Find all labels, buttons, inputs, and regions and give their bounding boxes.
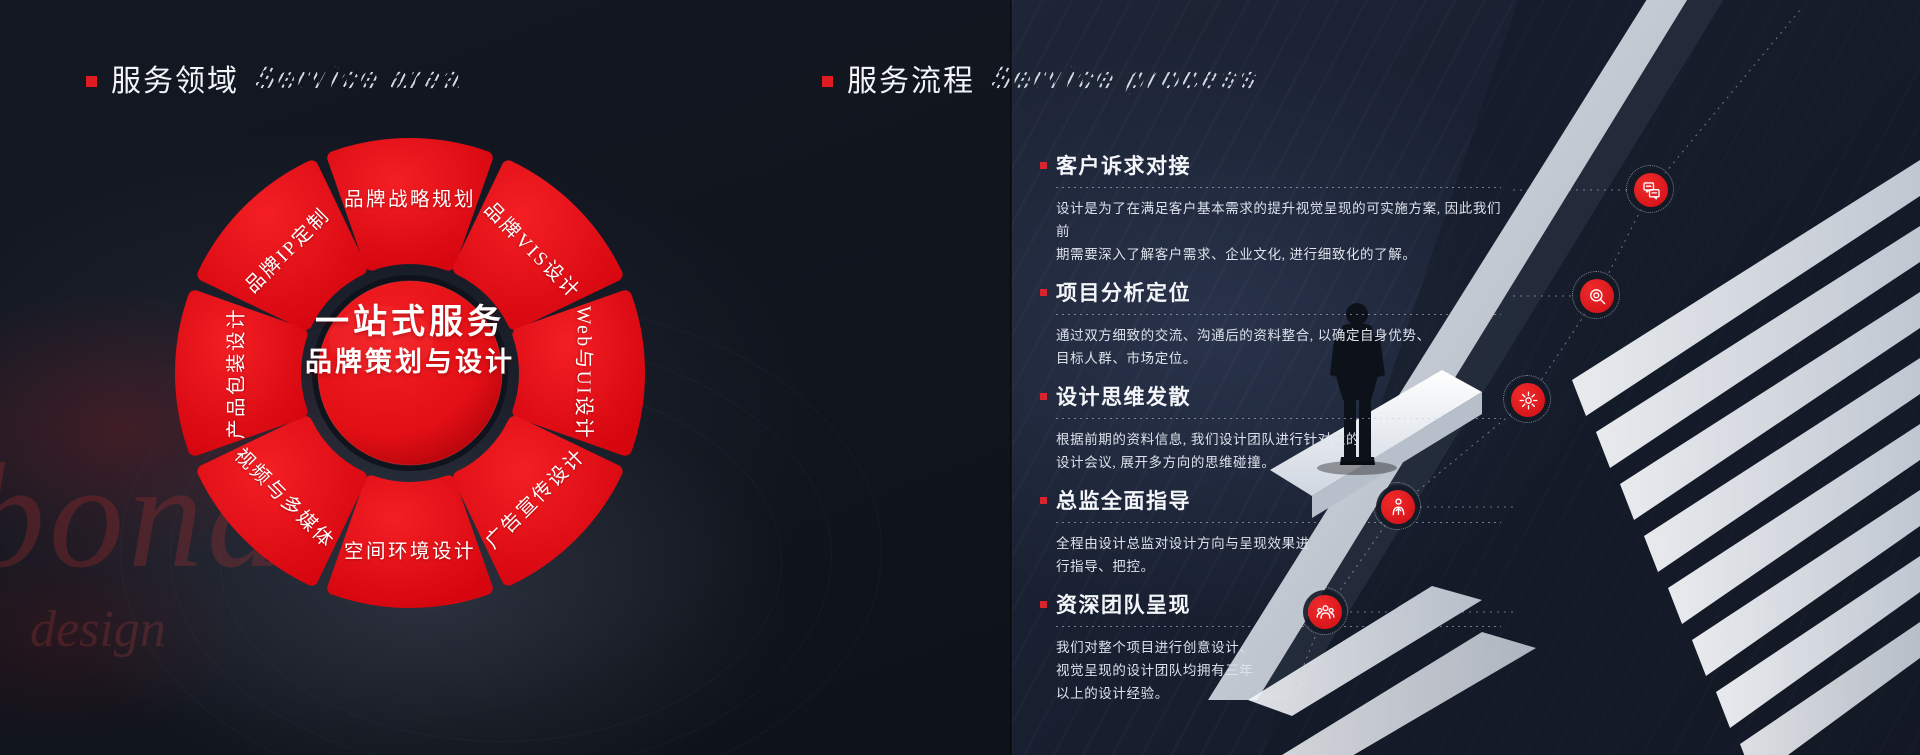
team-group-icon — [1316, 603, 1335, 622]
process-node-3[interactable] — [1511, 383, 1545, 417]
process-step-body-line: 通过双方细致的交流、沟通后的资料整合, 以确定自身优势、 — [1056, 324, 1510, 347]
process-step-divider — [1056, 187, 1501, 188]
donut-segment-label: Web与UI设计 — [572, 306, 601, 440]
process-node-4[interactable] — [1381, 490, 1415, 524]
process-node-5[interactable] — [1308, 595, 1342, 629]
slide-canvas: bona design — [0, 0, 1920, 755]
red-square-bullet-icon — [1040, 601, 1047, 608]
process-step[interactable]: 总监全面指导全程由设计总监对设计方向与呈现效果进行指导、把控。 — [1040, 485, 1510, 578]
red-square-bullet-icon — [1040, 289, 1047, 296]
process-step-divider — [1056, 314, 1501, 315]
service-area-donut: 一站式服务 品牌策划与设计 品牌战略规划品牌VIS设计Web与UI设计广告宣传设… — [155, 118, 665, 628]
process-step-body-line: 以上的设计经验。 — [1056, 682, 1510, 705]
red-square-bullet-icon — [822, 76, 833, 87]
donut-segment-label: 产品包装设计 — [220, 307, 249, 439]
process-step-title: 总监全面指导 — [1056, 485, 1191, 515]
process-step[interactable]: 项目分析定位通过双方细致的交流、沟通后的资料整合, 以确定自身优势、目标人群、市… — [1040, 277, 1510, 370]
left-heading-cn: 服务领域 — [111, 56, 239, 100]
process-step-body-line: 根据前期的资料信息, 我们设计团队进行针对性的 — [1056, 428, 1510, 451]
process-step-header: 总监全面指导 — [1040, 485, 1510, 515]
idea-burst-icon — [1519, 391, 1538, 410]
process-node-1[interactable] — [1634, 173, 1668, 207]
process-step-body: 设计是为了在满足客户基本需求的提升视觉呈现的可实施方案, 因此我们前期需要深入了… — [1056, 197, 1510, 266]
left-section-heading: 服务领域 Service area — [86, 56, 462, 100]
right-heading-cn: 服务流程 — [847, 56, 975, 100]
person-leader-icon — [1389, 498, 1408, 517]
process-step-body-line: 视觉呈现的设计团队均拥有三年 — [1056, 659, 1510, 682]
process-step-body-line: 目标人群、市场定位。 — [1056, 347, 1510, 370]
process-step-header: 客户诉求对接 — [1040, 150, 1510, 180]
process-step-header: 设计思维发散 — [1040, 381, 1510, 411]
process-step[interactable]: 资深团队呈现我们对整个项目进行创意设计、视觉呈现的设计团队均拥有三年以上的设计经… — [1040, 589, 1510, 705]
process-step[interactable]: 设计思维发散根据前期的资料信息, 我们设计团队进行针对性的设计会议, 展开多方向… — [1040, 381, 1510, 474]
process-step-title: 设计思维发散 — [1056, 381, 1191, 411]
process-step-title: 项目分析定位 — [1056, 277, 1191, 307]
red-square-bullet-icon — [1040, 497, 1047, 504]
left-heading-en: Service area — [255, 60, 462, 96]
process-step[interactable]: 客户诉求对接设计是为了在满足客户基本需求的提升视觉呈现的可实施方案, 因此我们前… — [1040, 150, 1510, 266]
process-step-body: 我们对整个项目进行创意设计、视觉呈现的设计团队均拥有三年以上的设计经验。 — [1056, 636, 1510, 705]
process-step-body: 根据前期的资料信息, 我们设计团队进行针对性的设计会议, 展开多方向的思维碰撞。 — [1056, 428, 1510, 474]
service-process-list: 客户诉求对接设计是为了在满足客户基本需求的提升视觉呈现的可实施方案, 因此我们前… — [1040, 150, 1510, 716]
process-step-header: 资深团队呈现 — [1040, 589, 1510, 619]
process-step-body: 通过双方细致的交流、沟通后的资料整合, 以确定自身优势、目标人群、市场定位。 — [1056, 324, 1510, 370]
donut-segment-label: 空间环境设计 — [344, 535, 476, 564]
red-square-bullet-icon — [1040, 393, 1047, 400]
process-step-body-line: 设计会议, 展开多方向的思维碰撞。 — [1056, 451, 1510, 474]
chat-bubbles-icon — [1642, 181, 1661, 200]
process-step-body-line: 我们对整个项目进行创意设计、 — [1056, 636, 1510, 659]
process-node-2[interactable] — [1580, 279, 1614, 313]
process-step-title: 客户诉求对接 — [1056, 150, 1191, 180]
donut-segment-label: 品牌战略规划 — [344, 183, 476, 212]
right-heading-en: Service process — [991, 60, 1259, 96]
right-section-heading: 服务流程 Service process — [822, 56, 1259, 100]
process-step-header: 项目分析定位 — [1040, 277, 1510, 307]
process-step-body-line: 行指导、把控。 — [1056, 555, 1510, 578]
process-step-divider — [1056, 418, 1501, 419]
red-square-bullet-icon — [1040, 162, 1047, 169]
process-step-divider — [1056, 626, 1501, 627]
red-square-bullet-icon — [86, 76, 97, 87]
target-search-icon — [1588, 287, 1607, 306]
process-step-body: 全程由设计总监对设计方向与呈现效果进行指导、把控。 — [1056, 532, 1510, 578]
process-step-body-line: 期需要深入了解客户需求、企业文化, 进行细致化的了解。 — [1056, 243, 1510, 266]
process-step-title: 资深团队呈现 — [1056, 589, 1191, 619]
process-step-body-line: 设计是为了在满足客户基本需求的提升视觉呈现的可实施方案, 因此我们前 — [1056, 197, 1510, 243]
watermark-design: design — [30, 600, 166, 659]
process-step-divider — [1056, 522, 1501, 523]
process-step-body-line: 全程由设计总监对设计方向与呈现效果进 — [1056, 532, 1510, 555]
